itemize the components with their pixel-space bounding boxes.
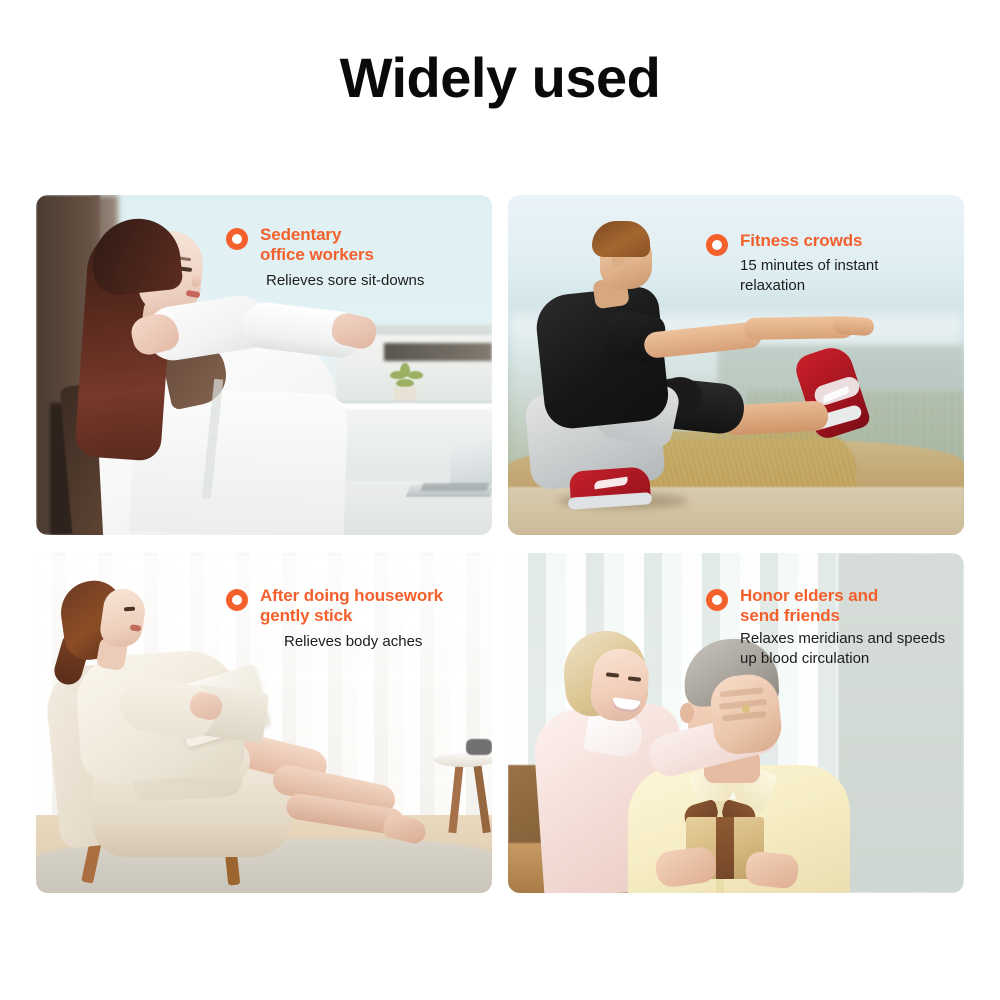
use-case-card-honor-elders-and-send-friends[interactable]: Honor elders and send friends Relaxes me… bbox=[508, 553, 964, 893]
card4-caption: Honor elders and send friends Relaxes me… bbox=[706, 586, 945, 668]
card3-caption-text: After doing housework gently stick Relie… bbox=[260, 586, 443, 652]
card3-heading-line1: After doing housework bbox=[260, 586, 443, 605]
card2-subtitle-line1: 15 minutes of instant bbox=[740, 256, 878, 276]
card1-laptop-keyboard bbox=[421, 483, 490, 491]
card4-wedding-ring bbox=[742, 705, 750, 713]
card2-caption-text: Fitness crowds 15 minutes of instant rel… bbox=[740, 231, 878, 296]
card2-subtitle-line2: relaxation bbox=[740, 276, 878, 296]
use-case-card-sedentary-office-workers[interactable]: Sedentary office workers Relieves sore s… bbox=[36, 195, 492, 535]
card4-heading-line1: Honor elders and bbox=[740, 586, 878, 605]
card1-shelf bbox=[366, 325, 492, 335]
card4-subtitle-line2: up blood circulation bbox=[740, 649, 945, 669]
card4-subtitle-line1: Relaxes meridians and speeds bbox=[740, 629, 945, 649]
card3-side-table bbox=[434, 753, 492, 767]
use-case-card-grid: Sedentary office workers Relieves sore s… bbox=[36, 195, 964, 893]
card3-person-eye bbox=[124, 607, 135, 612]
card1-heading-line2: office workers bbox=[260, 245, 374, 264]
card3-subtitle-line1: Relieves body aches bbox=[284, 632, 443, 652]
orange-donut-bullet-icon bbox=[226, 589, 248, 611]
orange-donut-bullet-icon bbox=[706, 234, 728, 256]
use-case-card-fitness-crowds[interactable]: Fitness crowds 15 minutes of instant rel… bbox=[508, 195, 964, 535]
promo-page: Widely used bbox=[0, 0, 1000, 1000]
card2-heading-line1: Fitness crowds bbox=[740, 231, 862, 250]
card1-heading-line1: Sedentary bbox=[260, 225, 341, 244]
card4-caption-text: Honor elders and send friends Relaxes me… bbox=[740, 586, 945, 668]
card4-gift-ribbon bbox=[716, 817, 734, 879]
card1-caption-text: Sedentary office workers Relieves sore s… bbox=[260, 225, 424, 291]
orange-donut-bullet-icon bbox=[226, 228, 248, 250]
card2-person-hand bbox=[834, 316, 875, 336]
card3-caption: After doing housework gently stick Relie… bbox=[226, 586, 443, 652]
card1-subtitle-line1: Relieves sore sit-downs bbox=[266, 271, 424, 291]
card3-heading-line2: gently stick bbox=[260, 606, 352, 625]
card1-shelf-objects bbox=[384, 343, 492, 361]
card4-heading-line2: send friends bbox=[740, 606, 840, 625]
page-title: Widely used bbox=[0, 50, 1000, 106]
orange-donut-bullet-icon bbox=[706, 589, 728, 611]
card4-man-hand-right bbox=[744, 850, 799, 889]
use-case-card-after-doing-housework[interactable]: After doing housework gently stick Relie… bbox=[36, 553, 492, 893]
card2-caption: Fitness crowds 15 minutes of instant rel… bbox=[706, 231, 878, 296]
card4-man-ear bbox=[680, 703, 694, 723]
card3-massage-device bbox=[466, 739, 492, 755]
card1-caption: Sedentary office workers Relieves sore s… bbox=[226, 225, 424, 291]
card2-person-hair bbox=[592, 221, 650, 257]
